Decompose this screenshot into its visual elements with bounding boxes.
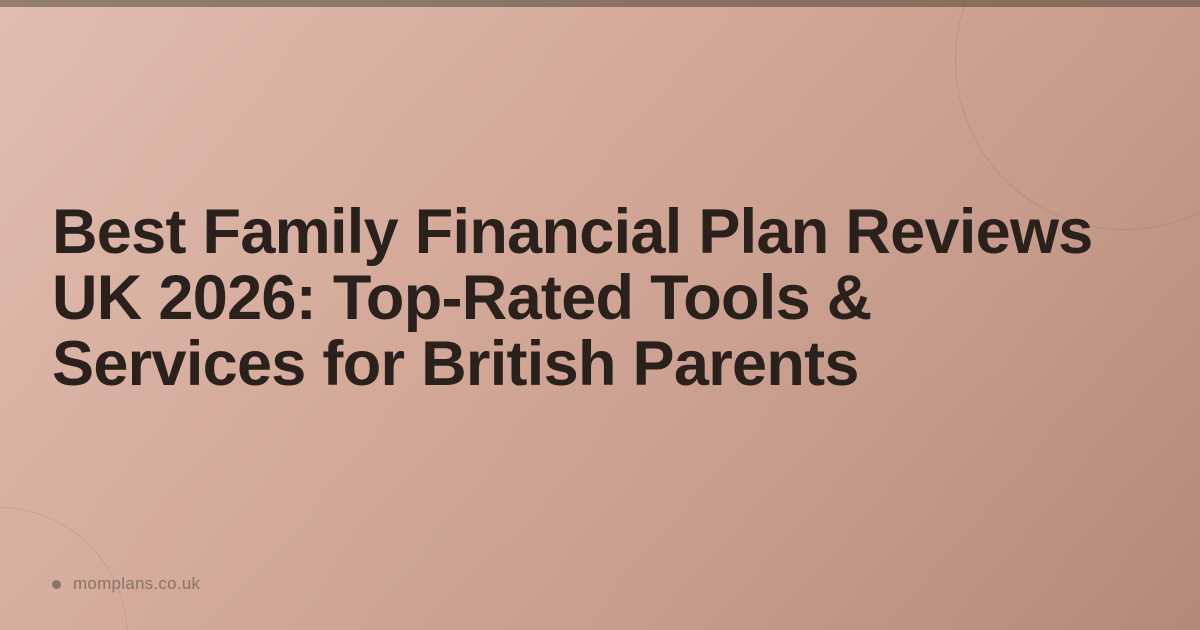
social-share-card: Best Family Financial Plan Reviews UK 20… xyxy=(0,0,1200,630)
site-domain-label: momplans.co.uk xyxy=(73,574,200,594)
footer-attribution: momplans.co.uk xyxy=(52,574,200,594)
card-content: Best Family Financial Plan Reviews UK 20… xyxy=(52,0,1122,630)
page-title: Best Family Financial Plan Reviews UK 20… xyxy=(52,199,1097,397)
dot-icon xyxy=(52,580,61,589)
